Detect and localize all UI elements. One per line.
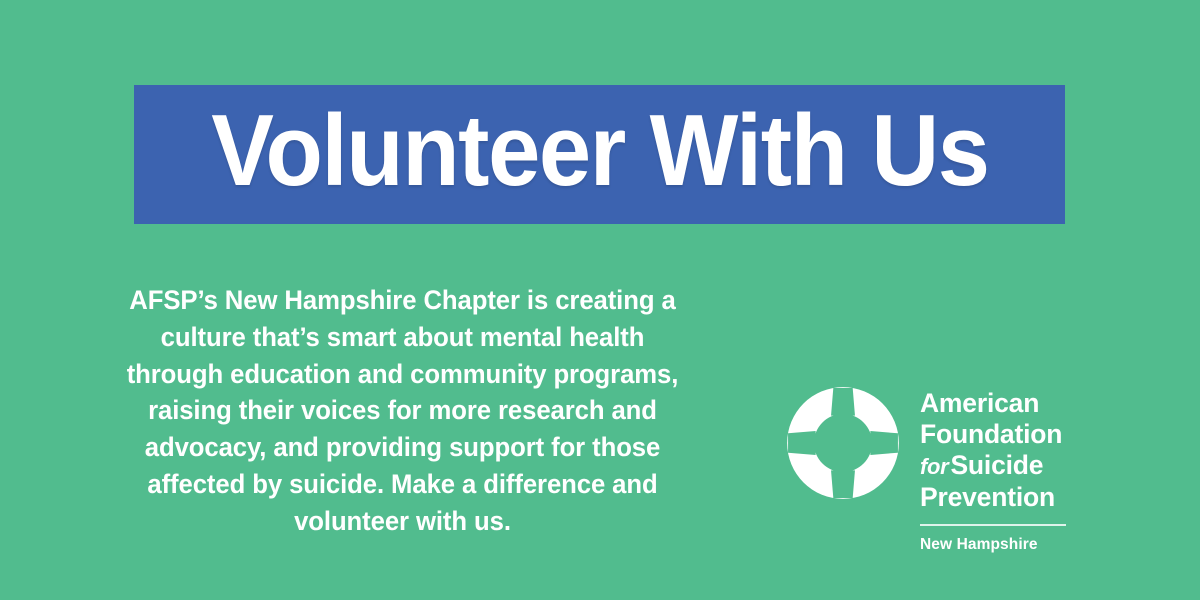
life-ring-icon bbox=[786, 386, 900, 500]
wordmark-line-foundation: Foundation bbox=[920, 419, 1068, 450]
afsp-logo-lockup: American Foundation forSuicide Preventio… bbox=[786, 383, 1068, 554]
wordmark-line-for-suicide: forSuicide bbox=[920, 450, 1068, 482]
body-paragraph: AFSP’s New Hampshire Chapter is creating… bbox=[119, 282, 686, 540]
wordmark-line-american: American bbox=[920, 388, 1068, 419]
headline-title: Volunteer With Us bbox=[211, 101, 988, 208]
wordmark-divider bbox=[920, 524, 1066, 526]
wordmark-line-prevention: Prevention bbox=[920, 482, 1068, 513]
headline-banner: Volunteer With Us bbox=[134, 85, 1065, 224]
wordmark-suicide: Suicide bbox=[950, 450, 1043, 480]
wordmark-for: for bbox=[920, 454, 950, 479]
poster-canvas: Volunteer With Us AFSP’s New Hampshire C… bbox=[0, 0, 1200, 600]
afsp-wordmark: American Foundation forSuicide Preventio… bbox=[920, 383, 1068, 554]
chapter-name: New Hampshire bbox=[920, 536, 1068, 554]
